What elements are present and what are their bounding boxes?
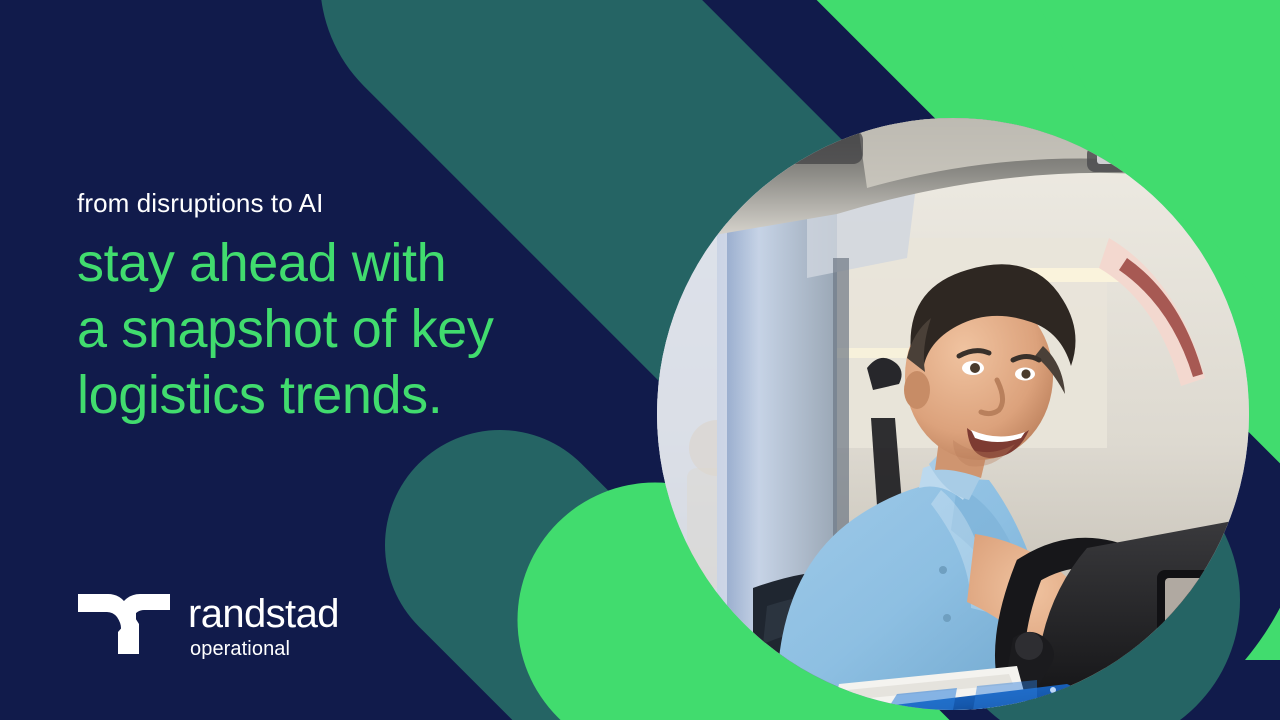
delivery-driver-in-van-illustration <box>657 118 1249 710</box>
page-title: stay ahead with a snapshot of key logist… <box>77 230 597 428</box>
copy-block: from disruptions to AI stay ahead with a… <box>77 186 597 428</box>
logo-wordmark: randstad <box>188 594 339 634</box>
randstad-t-mark <box>78 592 170 654</box>
randstad-logo: randstad operational <box>78 592 339 660</box>
eyebrow-text: from disruptions to AI <box>77 186 597 220</box>
logo-sub-brand: operational <box>190 638 339 660</box>
marketing-slide: from disruptions to AI stay ahead with a… <box>0 0 1280 720</box>
logo-wordmark-group: randstad operational <box>188 592 339 660</box>
hero-photo-circle <box>657 118 1249 710</box>
